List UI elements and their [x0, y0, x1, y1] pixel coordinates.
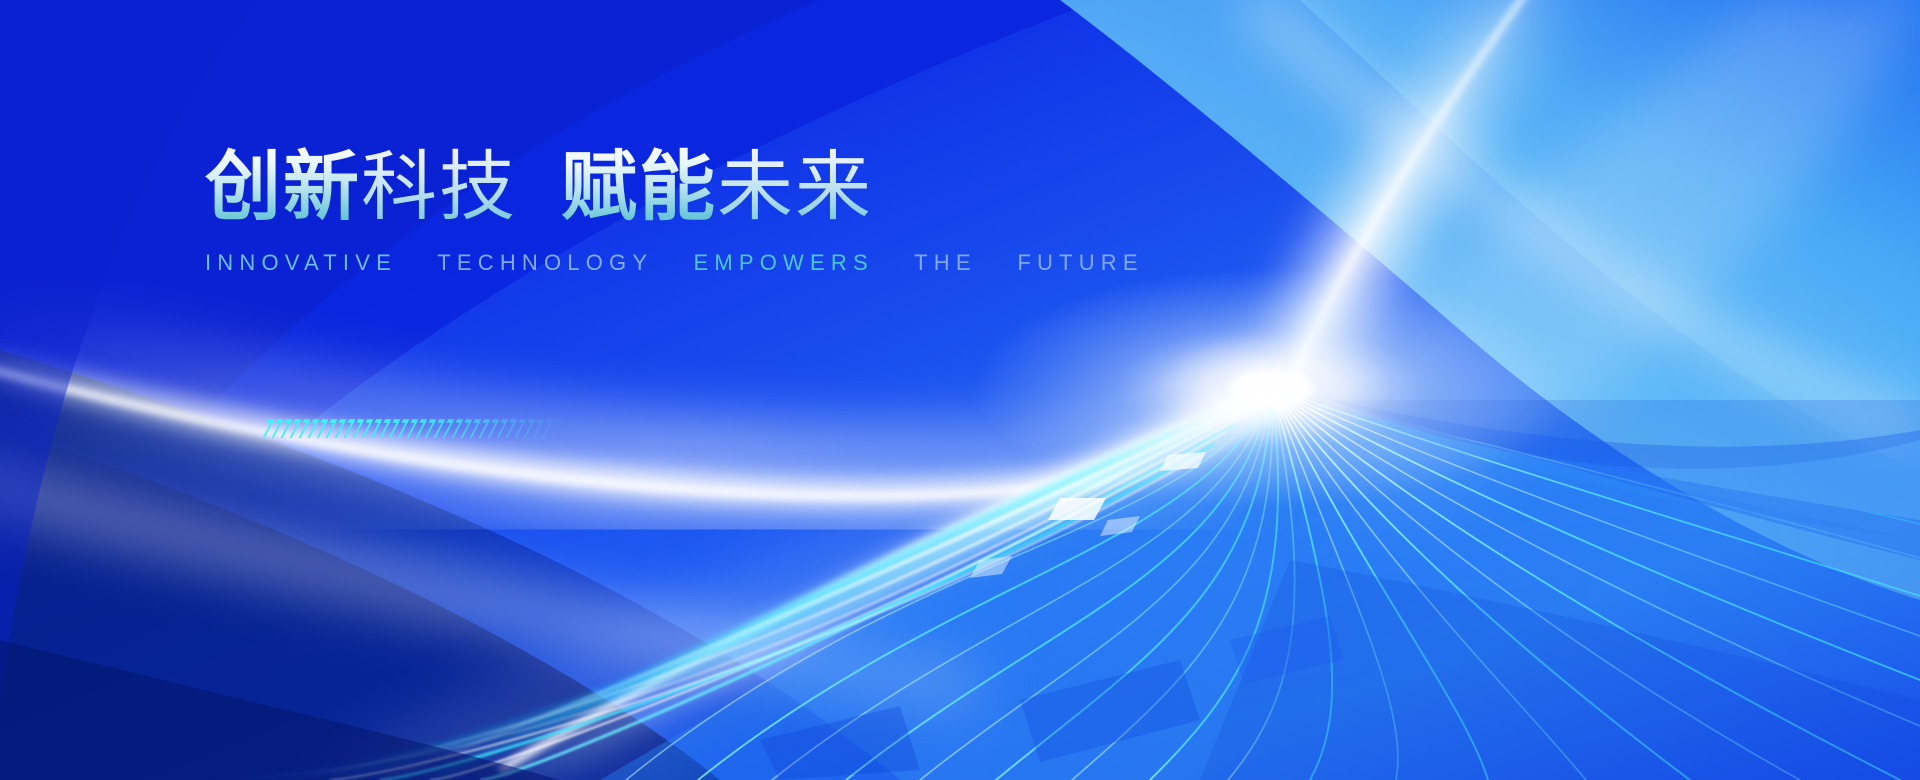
subtitle-word-innovative: INNOVATIVE — [205, 250, 397, 275]
subtitle-word-technology: TECHNOLOGY — [437, 250, 653, 275]
subtitle-word-the: THE — [914, 250, 977, 275]
page-subtitle: INNOVATIVE TECHNOLOGY EMPOWERS THE FUTUR… — [205, 250, 1105, 276]
hero-text-block: 创新 科技 赋能 未来 INNOVATIVE TECHNOLOGY EMPOWE… — [205, 140, 1105, 276]
subtitle-word-empowers: EMPOWERS — [693, 250, 873, 275]
background-artwork — [0, 0, 1920, 780]
page-title: 创新 科技 赋能 未来 — [205, 140, 1105, 236]
chevron-arrow-strip — [262, 412, 568, 442]
headline-segment-weilai: 未来 — [717, 140, 873, 236]
headline-segment-chuangxin: 创新 — [205, 140, 361, 236]
headline-segment-funeng: 赋能 — [561, 140, 717, 236]
headline-segment-keji: 科技 — [361, 140, 517, 236]
subtitle-word-future: FUTURE — [1017, 250, 1143, 275]
tech-banner: 创新 科技 赋能 未来 INNOVATIVE TECHNOLOGY EMPOWE… — [0, 0, 1920, 780]
